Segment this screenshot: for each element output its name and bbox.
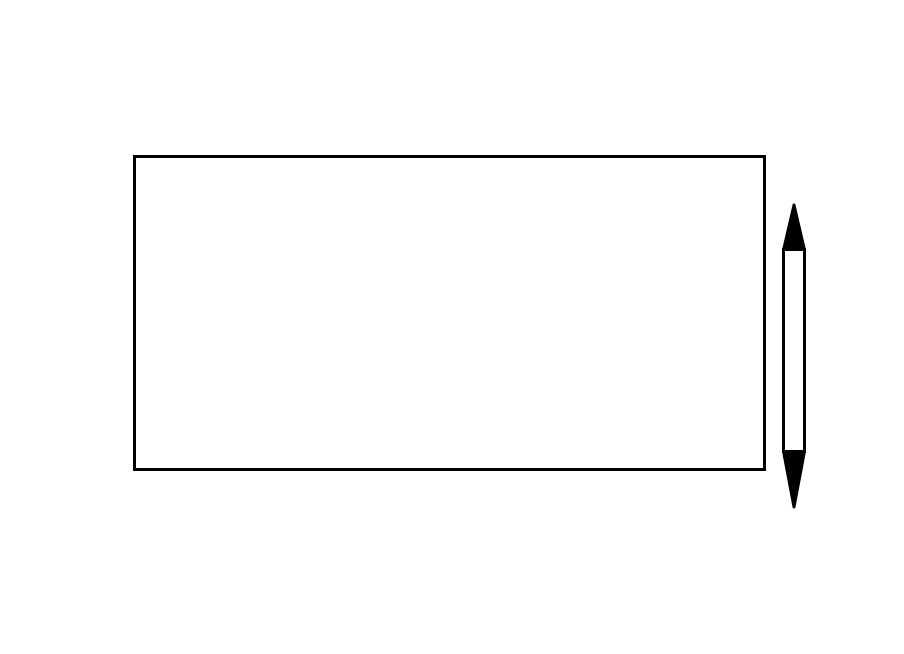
colorbar xyxy=(782,203,808,525)
colorbar-bands xyxy=(782,248,806,453)
colorbar-under-cap xyxy=(782,452,806,510)
figure-root xyxy=(0,0,904,654)
colorbar-over-cap xyxy=(782,203,806,250)
plot-frame xyxy=(133,155,766,471)
